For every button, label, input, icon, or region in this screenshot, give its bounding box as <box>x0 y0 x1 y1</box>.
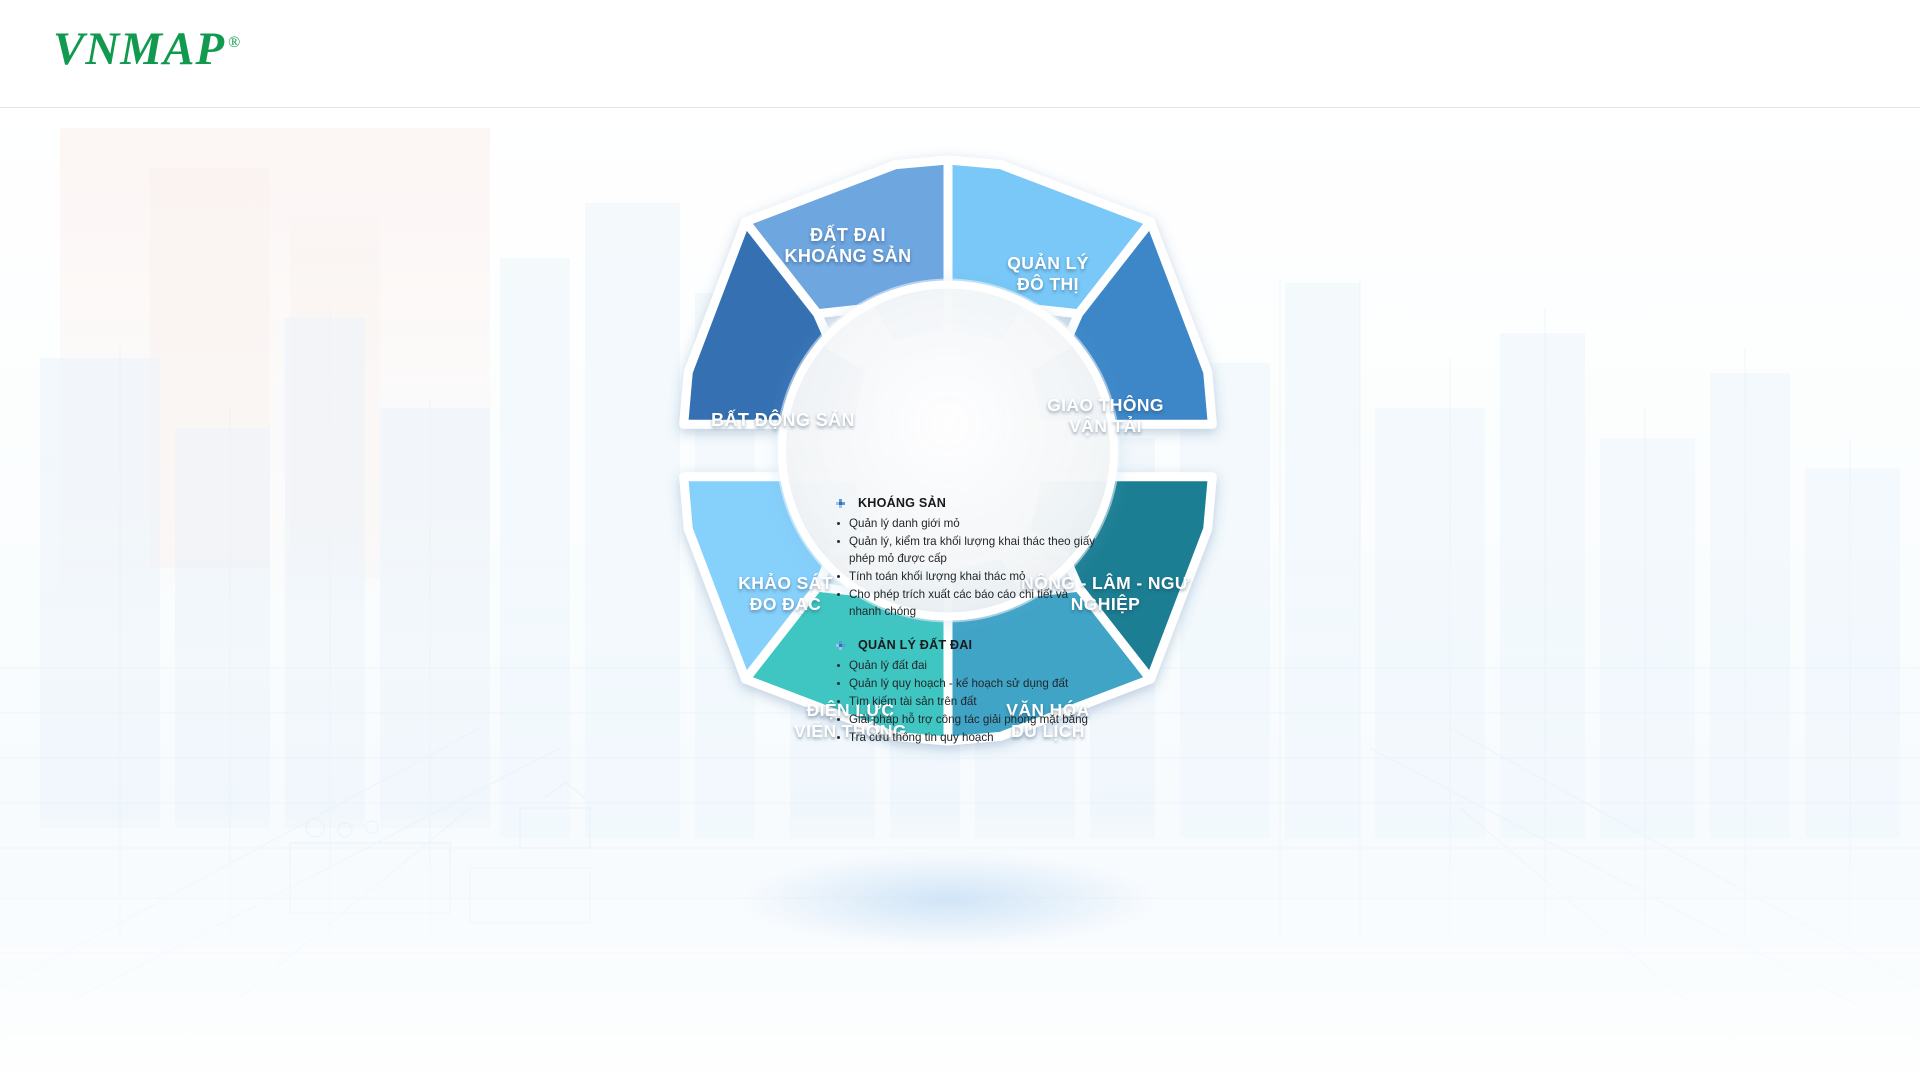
list-item: Giải pháp hỗ trợ công tác giải phóng mặt… <box>836 711 1096 728</box>
list-item: Quản lý, kiểm tra khối lượng khai thác t… <box>836 533 1096 567</box>
detail-item-list: Quản lý đất đai Quản lý quy hoạch - kế h… <box>836 657 1096 746</box>
content-stage: ĐẤT ĐAI KHOÁNG SẢN QUẢN LÝ ĐÔ THỊ GIAO T… <box>0 108 1920 1080</box>
list-item: Quản lý danh giới mỏ <box>836 515 1096 532</box>
registered-trademark-icon: ® <box>228 34 240 51</box>
detail-group-quan-ly-dat-dai: QUẢN LÝ ĐẤT ĐAI Quản lý đất đai Quản lý … <box>836 638 1096 746</box>
group-spacer <box>836 624 1096 638</box>
list-item: Quản lý quy hoạch - kế hoạch sử dụng đất <box>836 675 1096 692</box>
list-item: Cho phép trích xuất các báo cáo chi tiết… <box>836 586 1096 620</box>
detail-group-khoang-san: KHOÁNG SẢN Quản lý danh giới mỏ Quản lý,… <box>836 496 1096 620</box>
list-item: Quản lý đất đai <box>836 657 1096 674</box>
diamond-bullet-icon <box>836 499 845 508</box>
list-item: Tìm kiếm tài sản trên đất <box>836 693 1096 710</box>
detail-group-title: QUẢN LÝ ĐẤT ĐAI <box>858 638 972 652</box>
list-item: Tra cứu thông tin quy hoạch <box>836 729 1096 746</box>
detail-item-list: Quản lý danh giới mỏ Quản lý, kiểm tra k… <box>836 515 1096 620</box>
vnmap-logo[interactable]: VNMAP® <box>53 26 240 73</box>
logo-wordmark: VNMAP <box>53 23 225 75</box>
detail-group-heading: KHOÁNG SẢN <box>836 496 1096 510</box>
list-item: Tính toán khối lượng khai thác mỏ <box>836 568 1096 585</box>
page-header: VNMAP® <box>0 0 1920 108</box>
header-divider <box>0 107 1920 108</box>
detail-group-title: KHOÁNG SẢN <box>858 496 946 510</box>
diamond-bullet-icon <box>836 641 845 650</box>
center-details-panel: KHOÁNG SẢN Quản lý danh giới mỏ Quản lý,… <box>836 496 1096 796</box>
detail-group-heading: QUẢN LÝ ĐẤT ĐAI <box>836 638 1096 652</box>
